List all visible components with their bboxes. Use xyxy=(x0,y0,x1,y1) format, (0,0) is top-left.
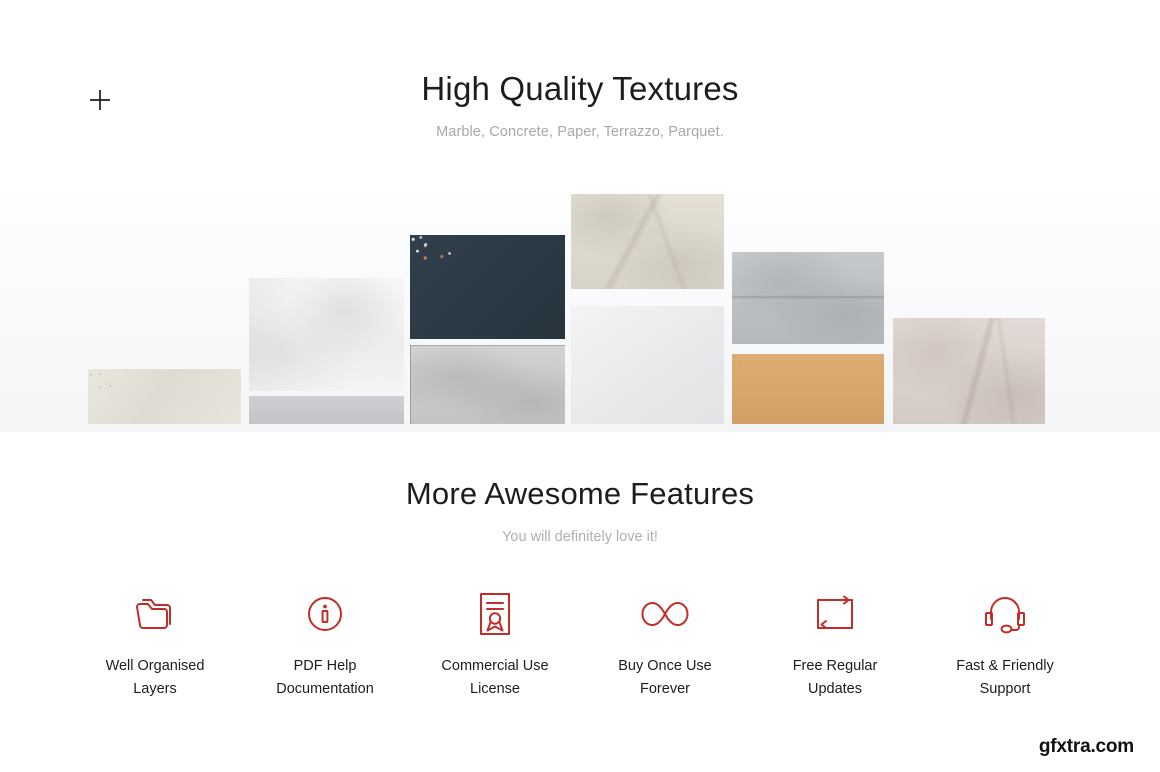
hero-header: High Quality Textures Marble, Concrete, … xyxy=(0,0,1160,180)
features-grid: Well Organised Layers PDF Help Documenta… xyxy=(0,587,1160,701)
info-circle-icon xyxy=(240,587,410,641)
feature-label: PDF Help Documentation xyxy=(240,655,410,701)
plus-icon[interactable] xyxy=(86,86,114,114)
features-title: More Awesome Features xyxy=(0,476,1160,512)
feature-label: Fast & Friendly Support xyxy=(920,655,1090,701)
texture-tile-terrazzo-dark[interactable] xyxy=(410,235,565,339)
texture-tile-concrete-white[interactable] xyxy=(249,278,404,391)
watermark: gfxtra.com xyxy=(1039,736,1134,758)
texture-tile-marble-rose[interactable] xyxy=(893,318,1045,424)
feature-item-well-organised-layers[interactable]: Well Organised Layers xyxy=(70,587,240,701)
features-subtitle: You will definitely love it! xyxy=(0,529,1160,545)
feature-item-free-regular-updates[interactable]: Free Regular Updates xyxy=(750,587,920,701)
feature-item-fast-friendly-support[interactable]: Fast & Friendly Support xyxy=(920,587,1090,701)
page-subtitle: Marble, Concrete, Paper, Terrazzo, Parqu… xyxy=(0,124,1160,140)
feature-item-buy-once-use-forever[interactable]: Buy Once Use Forever xyxy=(580,587,750,701)
texture-tile-concrete-panels[interactable] xyxy=(410,345,565,424)
texture-tile-paper-white[interactable] xyxy=(571,306,724,424)
texture-tile-marble-light[interactable] xyxy=(88,369,241,424)
texture-showcase xyxy=(0,180,1160,432)
page-root: High Quality Textures Marble, Concrete, … xyxy=(0,0,1160,772)
texture-tile-concrete-grey[interactable] xyxy=(732,252,884,344)
feature-label: Commercial Use License xyxy=(410,655,580,701)
feature-item-commercial-use-license[interactable]: Commercial Use License xyxy=(410,587,580,701)
feature-label: Buy Once Use Forever xyxy=(580,655,750,701)
features-header: More Awesome Features You will definitel… xyxy=(0,432,1160,545)
feature-label: Free Regular Updates xyxy=(750,655,920,701)
feature-label: Well Organised Layers xyxy=(70,655,240,701)
refresh-loop-icon xyxy=(750,587,920,641)
texture-tile-cork-kraft[interactable] xyxy=(732,354,884,424)
texture-tile-marble-beige[interactable] xyxy=(571,194,724,289)
folders-icon xyxy=(70,587,240,641)
page-title: High Quality Textures xyxy=(0,70,1160,108)
certificate-icon xyxy=(410,587,580,641)
headset-icon xyxy=(920,587,1090,641)
texture-tile-plaster-grey[interactable] xyxy=(249,396,404,424)
feature-item-pdf-help-documentation[interactable]: PDF Help Documentation xyxy=(240,587,410,701)
infinity-icon xyxy=(580,587,750,641)
